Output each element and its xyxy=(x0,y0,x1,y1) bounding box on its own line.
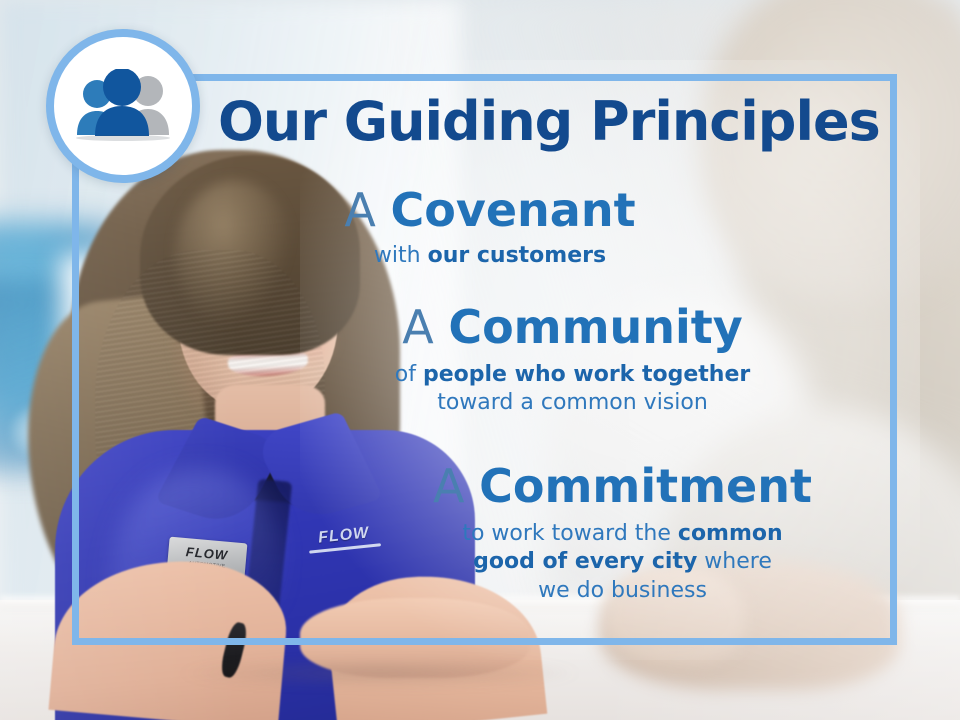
principle-block-commitment: A Commitment to work toward the commongo… xyxy=(350,462,895,605)
principle-keyword: Community xyxy=(448,300,742,354)
principle-detail: with our customers xyxy=(230,242,750,270)
principle-detail: to work toward the commongood of every c… xyxy=(350,520,895,604)
principle-detail-line: with our customers xyxy=(230,242,750,270)
people-badge xyxy=(46,29,200,183)
plain-text: where xyxy=(697,549,772,574)
principle-lead: A Covenant xyxy=(230,186,750,234)
principle-detail: of people who work togethertoward a comm… xyxy=(285,361,860,417)
plain-text: we do business xyxy=(538,578,707,603)
emphasis-text: common xyxy=(678,521,783,546)
principle-block-covenant: A Covenant with our customers xyxy=(230,186,750,270)
principle-block-community: A Community of people who work togethert… xyxy=(285,303,860,418)
plain-text: with xyxy=(374,243,428,268)
emphasis-text: our customers xyxy=(428,243,607,268)
page-title: Our Guiding Principles xyxy=(218,95,878,149)
principle-detail-line: toward a common vision xyxy=(285,389,860,417)
principle-detail-line: we do business xyxy=(350,577,895,605)
emphasis-text: people who work together xyxy=(423,362,750,387)
principle-article: A xyxy=(433,459,479,513)
principle-lead: A Commitment xyxy=(350,462,895,510)
principle-article: A xyxy=(344,183,390,237)
plain-text: of xyxy=(395,362,423,387)
principle-detail-line: good of every city where xyxy=(350,548,895,576)
plain-text: toward a common vision xyxy=(437,390,708,415)
principle-lead: A Community xyxy=(285,303,860,351)
principle-detail-line: to work toward the common xyxy=(350,520,895,548)
principle-keyword: Commitment xyxy=(479,459,812,513)
principle-article: A xyxy=(402,300,448,354)
principle-keyword: Covenant xyxy=(391,183,636,237)
principle-detail-line: of people who work together xyxy=(285,361,860,389)
emphasis-text: good of every city xyxy=(473,549,697,574)
hands-desk-shadow xyxy=(180,660,580,686)
group-people-icon xyxy=(71,69,175,143)
poster-canvas: FLOW AUTOMOTIVE FLOW Our Guidin xyxy=(0,0,960,720)
plain-text: to work toward the xyxy=(462,521,678,546)
